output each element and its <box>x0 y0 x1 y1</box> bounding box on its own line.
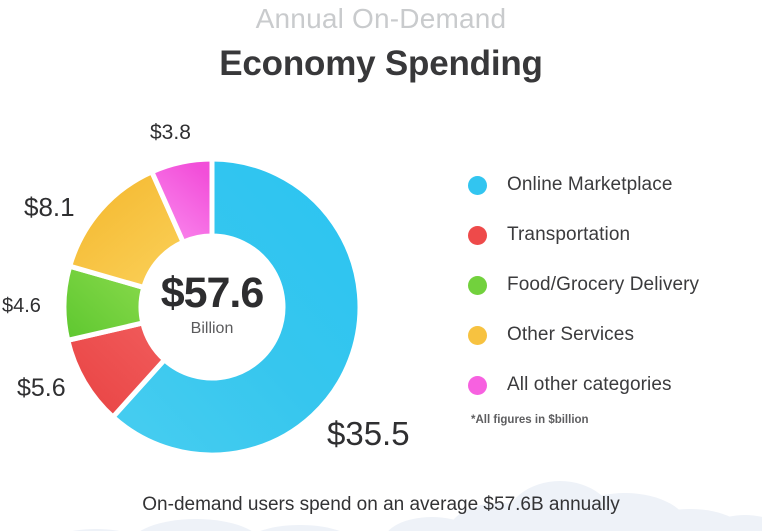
legend-item-food-grocery-delivery[interactable]: Food/Grocery Delivery <box>468 260 748 310</box>
legend-item-all-other-categories[interactable]: All other categories <box>468 360 748 410</box>
legend-item-label: Other Services <box>507 324 634 346</box>
donut-center-unit: Billion <box>191 320 234 338</box>
legend-item-label: Transportation <box>507 224 630 246</box>
slice-label-other-services: $8.1 <box>24 192 75 223</box>
legend-swatch-icon <box>468 376 487 395</box>
slice-label-food-grocery-delivery: $4.6 <box>2 295 41 318</box>
legend-item-label: Online Marketplace <box>507 174 673 196</box>
legend-item-other-services[interactable]: Other Services <box>468 310 748 360</box>
legend-item-transportation[interactable]: Transportation <box>468 210 748 260</box>
page-subtitle: Annual On-Demand <box>0 3 762 35</box>
legend-item-label: Food/Grocery Delivery <box>507 274 699 296</box>
donut-center: $57.6 Billion <box>62 157 362 457</box>
legend-item-label: All other categories <box>507 374 672 396</box>
donut-center-value: $57.6 <box>161 272 264 315</box>
slice-label-online-marketplace: $35.5 <box>327 415 410 453</box>
infographic-canvas: Annual On-Demand Economy Spending <box>0 0 762 531</box>
slice-label-transportation: $5.6 <box>17 374 66 403</box>
donut-chart: $57.6 Billion <box>62 157 362 457</box>
legend-swatch-icon <box>468 226 487 245</box>
chart-caption: On-demand users spend on an average $57.… <box>0 494 762 516</box>
page-title: Economy Spending <box>0 44 762 84</box>
legend-swatch-icon <box>468 276 487 295</box>
legend-item-online-marketplace[interactable]: Online Marketplace <box>468 160 748 210</box>
legend-swatch-icon <box>468 176 487 195</box>
legend-swatch-icon <box>468 326 487 345</box>
legend-footnote: *All figures in $billion <box>471 414 589 426</box>
chart-legend: Online MarketplaceTransportationFood/Gro… <box>468 160 748 410</box>
slice-label-all-other-categories: $3.8 <box>150 121 191 145</box>
